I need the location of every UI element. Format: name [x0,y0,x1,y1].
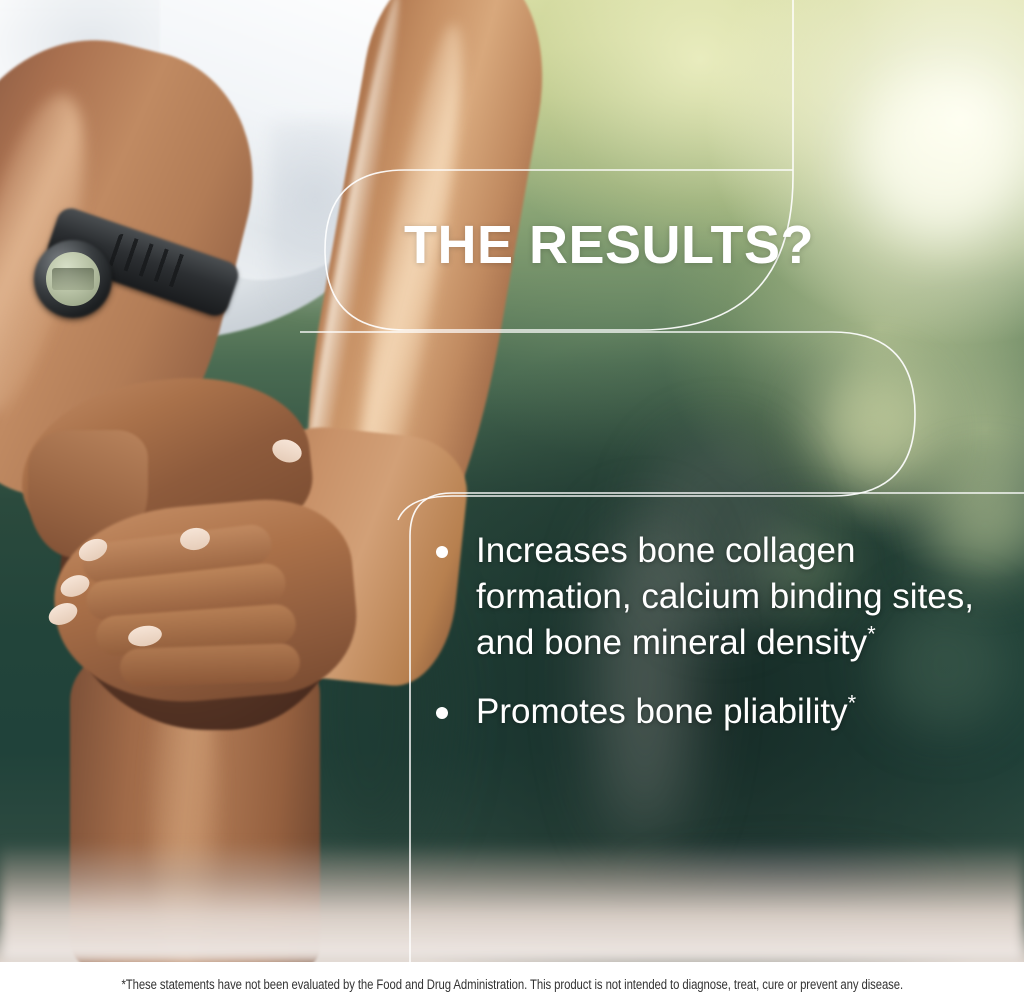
list-item: Increases bone collagen formation, calci… [430,528,1010,667]
ground-strip [0,842,1024,962]
creative-banner: THE RESULTS? Increases bone collagen for… [0,0,1024,1006]
bokeh-highlight [860,80,1020,240]
list-item-label: Increases bone collagen formation, calci… [476,531,974,662]
footnote-asterisk: * [867,622,876,647]
watch-display [52,268,94,290]
list-item-label: Promotes bone pliability [476,692,848,731]
finger [119,643,300,687]
bokeh-blob [812,372,932,492]
bullet-dot-icon [436,546,448,558]
disclaimer-bar: *These statements have not been evaluate… [0,962,1024,1006]
footnote-asterisk: * [848,690,857,715]
bullet-dot-icon [436,707,448,719]
list-item: Promotes bone pliability* [430,689,1010,735]
disclaimer-text: *These statements have not been evaluate… [121,977,903,992]
hero-photo [0,0,1024,962]
page-title: THE RESULTS? [404,218,814,272]
benefits-list: Increases bone collagen formation, calci… [430,528,1010,735]
